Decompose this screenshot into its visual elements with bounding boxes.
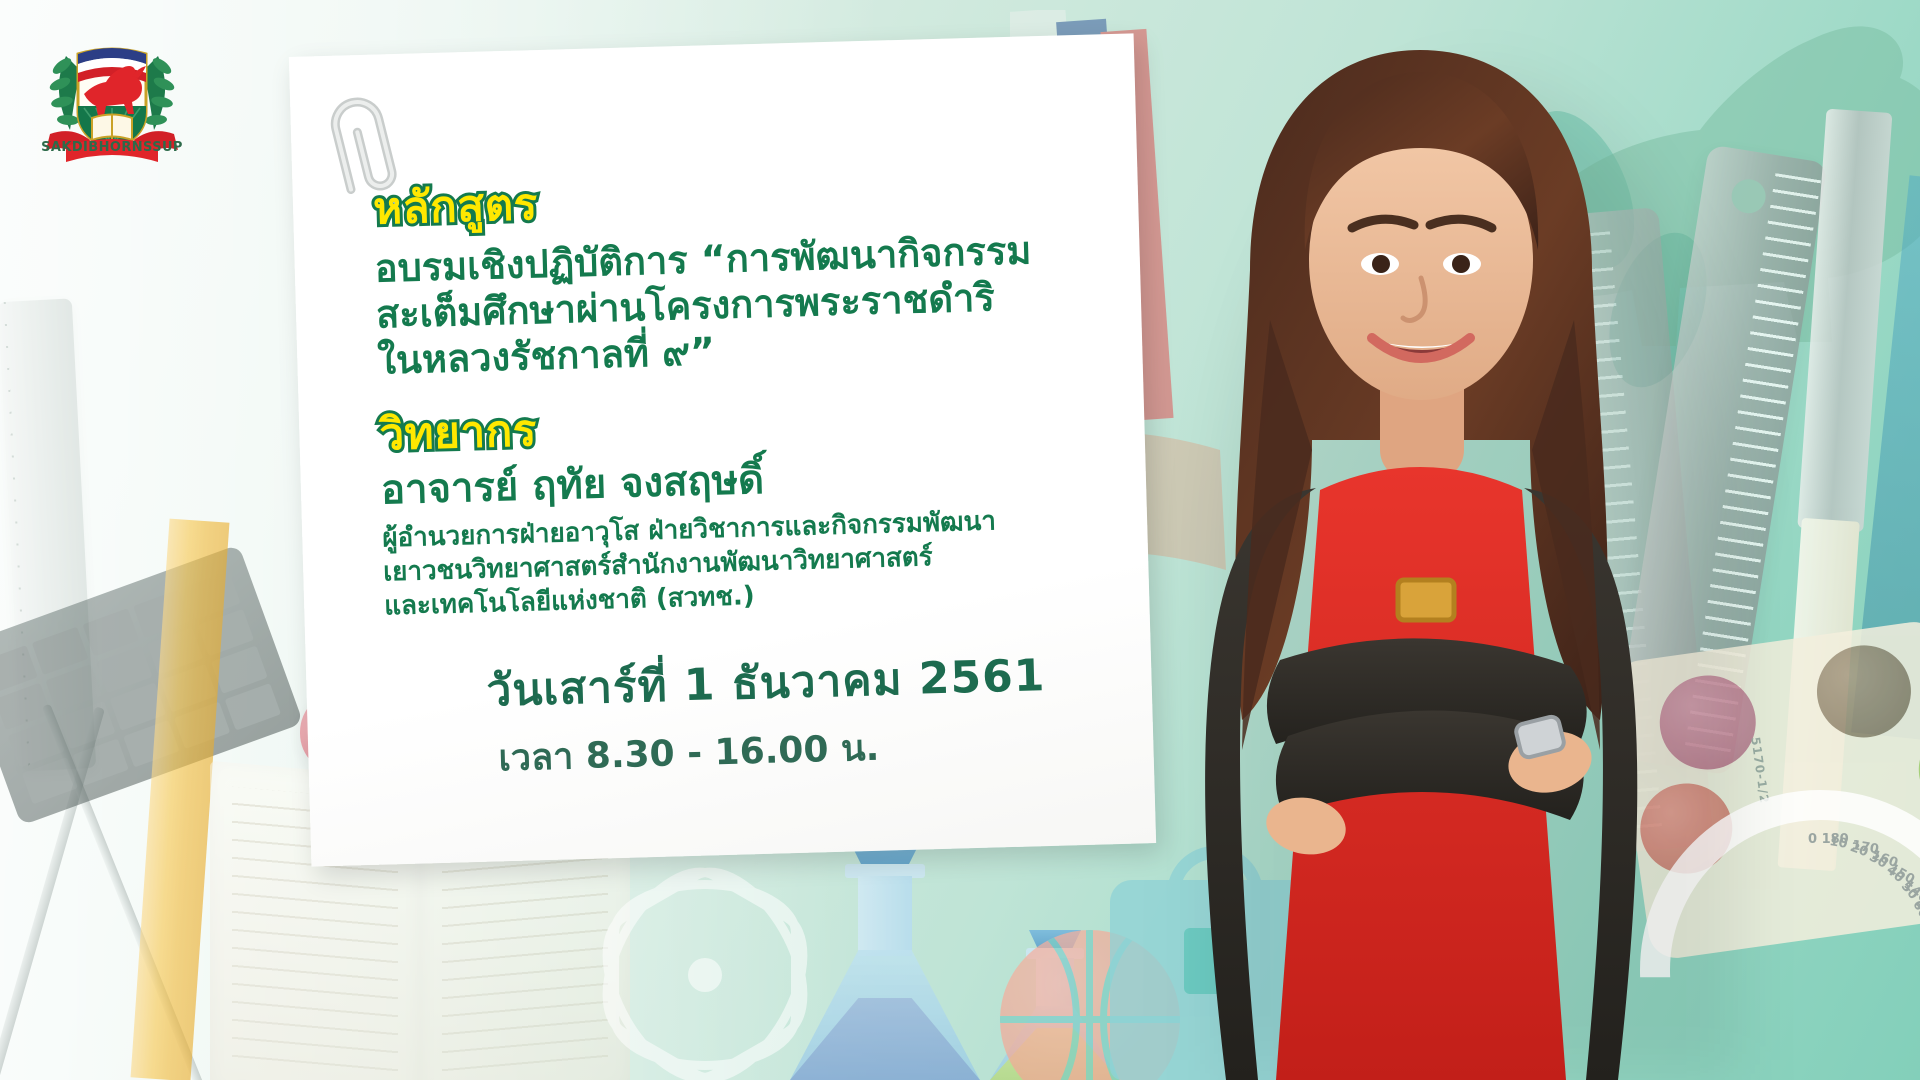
course-title: อบรมเชิงปฏิบัติการ “การพัฒนากิจกรรม สะเต… bbox=[374, 224, 1143, 384]
speaker-label: วิทยากร bbox=[379, 406, 538, 461]
atom-icon bbox=[610, 880, 800, 1070]
course-label-wrap: หลักสูตร bbox=[372, 180, 538, 235]
presenter-photo bbox=[1130, 20, 1710, 1080]
card-content: หลักสูตร อบรมเชิงปฏิบัติการ “การพัฒนากิจ… bbox=[289, 33, 1156, 866]
school-name-label: SAKDIBHORNSSUP bbox=[32, 140, 192, 155]
poster-canvas: 5170-1/2 0 18010 17020 16030 15040 14050… bbox=[0, 0, 1920, 1080]
speaker-affiliation: ผู้อำนวยการฝ่ายอาวุโส ฝ่ายวิชาการและกิจก… bbox=[382, 501, 1150, 624]
course-label: หลักสูตร bbox=[372, 180, 538, 235]
speaker-label-wrap: วิทยากร bbox=[379, 406, 538, 461]
flask-large-icon bbox=[790, 840, 980, 1080]
event-date: วันเสาร์ที่ 1 ธันวาคม 2561 bbox=[486, 637, 1153, 726]
